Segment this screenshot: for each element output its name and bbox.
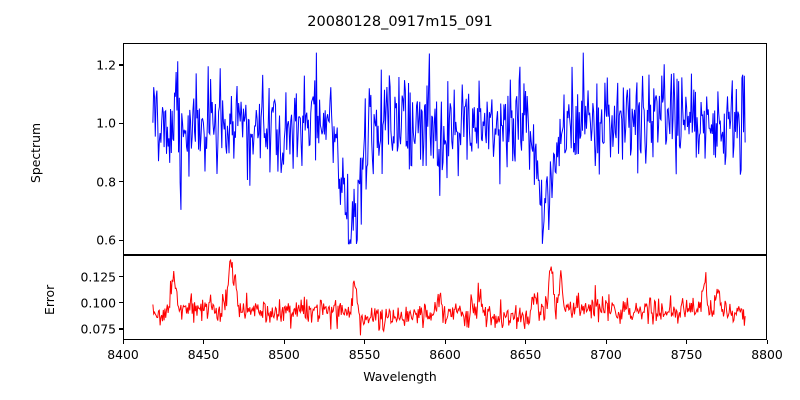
x-tick-error [606, 340, 607, 344]
figure-canvas: 20080128_0917m15_091 0.60.81.01.20.0750.… [0, 0, 800, 400]
error-line [153, 260, 745, 335]
x-ticklabel: 8400 [107, 347, 139, 362]
y-ticklabel-error: 0.100 [67, 295, 116, 310]
x-ticklabel: 8750 [671, 347, 703, 362]
x-ticklabel: 8550 [349, 347, 381, 362]
y-ticklabel-error: 0.125 [67, 269, 116, 284]
y-axis-label-error: Error [42, 284, 57, 314]
y-tick-spectrum [119, 240, 123, 241]
spectrum-line-svg [124, 44, 766, 254]
error-line-svg [124, 256, 766, 339]
y-tick-spectrum [119, 64, 123, 65]
x-tick-error [364, 340, 365, 344]
y-tick-error [119, 328, 123, 329]
y-ticklabel-spectrum: 1.2 [75, 57, 116, 72]
x-axis-label-wavelength: Wavelength [0, 369, 800, 384]
y-tick-error [119, 302, 123, 303]
y-ticklabel-spectrum: 1.0 [75, 116, 116, 131]
y-axis-label-spectrum: Spectrum [28, 123, 43, 183]
x-ticklabel: 8500 [268, 347, 300, 362]
y-tick-error [119, 276, 123, 277]
y-ticklabel-spectrum: 0.8 [75, 174, 116, 189]
x-tick-error [123, 340, 124, 344]
x-tick-error [767, 340, 768, 344]
x-tick-error [203, 340, 204, 344]
x-ticklabel: 8450 [188, 347, 220, 362]
x-ticklabel: 8700 [590, 347, 622, 362]
figure-title: 20080128_0917m15_091 [0, 14, 800, 30]
x-ticklabel: 8600 [429, 347, 461, 362]
x-tick-error [525, 340, 526, 344]
y-ticklabel-spectrum: 0.6 [75, 233, 116, 248]
y-ticklabel-error: 0.075 [67, 321, 116, 336]
spectrum-plot-panel [123, 43, 767, 255]
y-tick-spectrum [119, 123, 123, 124]
spectrum-line [153, 53, 745, 244]
x-ticklabel: 8800 [751, 347, 783, 362]
x-tick-error [686, 340, 687, 344]
error-plot-panel [123, 255, 767, 340]
x-ticklabel: 8650 [510, 347, 542, 362]
y-tick-spectrum [119, 181, 123, 182]
x-tick-error [445, 340, 446, 344]
x-tick-error [284, 340, 285, 344]
